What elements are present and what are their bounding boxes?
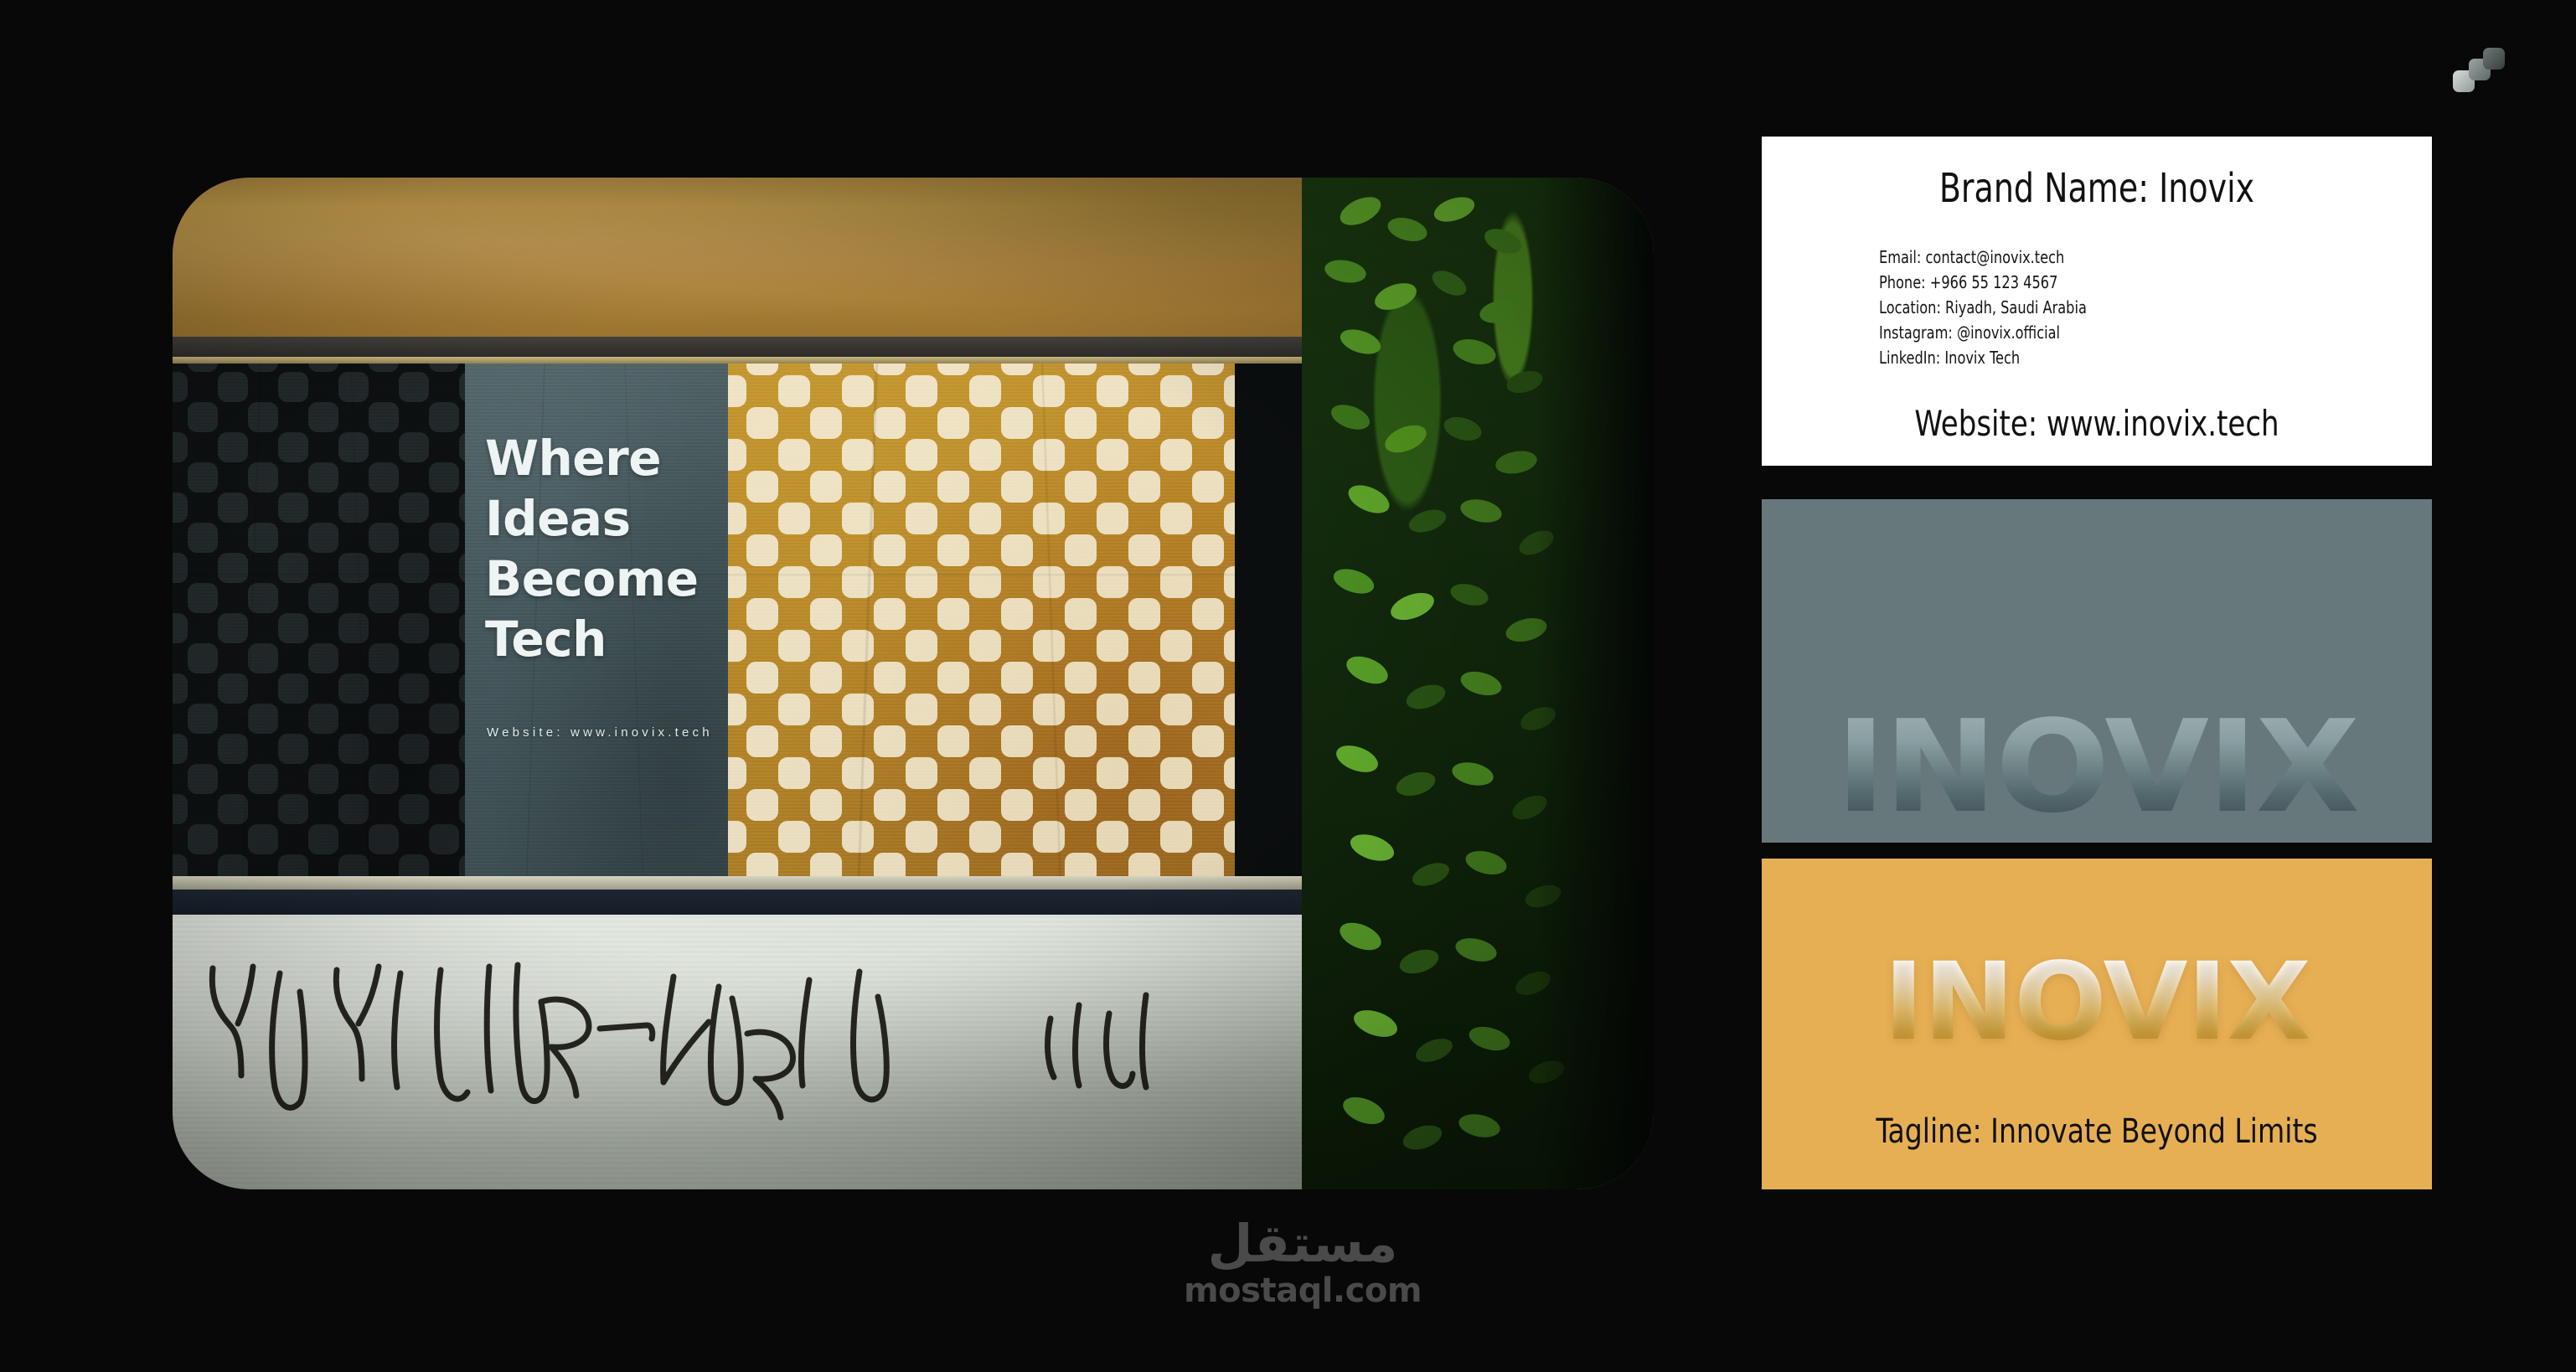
pattern-tile — [459, 583, 465, 643]
pattern-tile — [278, 523, 338, 583]
pattern-tile — [459, 523, 465, 583]
pattern-tile — [173, 824, 218, 876]
pattern-tile — [1160, 598, 1224, 662]
pattern-tile — [173, 704, 218, 764]
logo-block-3 — [2483, 48, 2505, 70]
billboard-ochre-pattern-panel — [728, 364, 1235, 876]
stepped-pattern-dark — [173, 364, 465, 876]
pattern-tile — [728, 853, 778, 876]
pattern-tile — [1224, 534, 1235, 598]
stepped-pattern-ochre — [728, 364, 1235, 876]
pattern-tile — [218, 764, 278, 824]
pattern-tile — [1224, 725, 1235, 789]
pattern-tile — [338, 583, 399, 643]
pattern-tile — [728, 471, 778, 534]
pattern-tile — [778, 534, 842, 598]
pattern-tile — [459, 402, 465, 462]
pattern-tile — [969, 598, 1033, 662]
pattern-tile — [278, 462, 338, 523]
pattern-tile — [1033, 534, 1097, 598]
pattern-tile — [1160, 853, 1224, 876]
pattern-tile — [399, 824, 459, 876]
pattern-tile — [1224, 364, 1235, 407]
wordmark-orange: INOVIX — [1762, 949, 2432, 1056]
pattern-tile — [278, 402, 338, 462]
pattern-tile — [338, 364, 399, 402]
pattern-tile — [399, 364, 459, 402]
pattern-tile — [1224, 853, 1235, 876]
orange-logo-panel: INOVIX Tagline: Innovate Beyond Limits — [1762, 859, 2432, 1189]
pattern-tile — [338, 643, 399, 704]
pattern-tile — [173, 364, 218, 402]
pattern-tile — [1033, 471, 1097, 534]
pattern-tile — [338, 704, 399, 764]
pattern-tile — [778, 853, 842, 876]
pattern-tile — [1160, 364, 1224, 407]
pattern-tile — [906, 662, 969, 725]
contact-phone: Phone: +966 55 123 4567 — [1879, 270, 2377, 295]
pattern-tile — [1224, 598, 1235, 662]
pattern-tile — [1033, 662, 1097, 725]
contact-location: Location: Riyadh, Saudi Arabia — [1879, 295, 2377, 320]
pattern-tile — [728, 364, 778, 407]
pattern-tile — [969, 789, 1033, 853]
pattern-tile — [459, 462, 465, 523]
pattern-tile — [728, 598, 778, 662]
pattern-tile — [278, 364, 338, 402]
billboard-headline: Where Ideas Become Tech — [485, 429, 720, 670]
pattern-tile — [969, 407, 1033, 471]
website-line: Website: www.inovix.tech — [1795, 403, 2398, 444]
pattern-tile — [218, 462, 278, 523]
pattern-tile — [1224, 662, 1235, 725]
pattern-tile — [906, 364, 969, 407]
pattern-tile — [1160, 662, 1224, 725]
pattern-tile — [173, 402, 218, 462]
pattern-tile — [173, 523, 218, 583]
contact-email: Email: contact@inovix.tech — [1879, 245, 2377, 270]
pattern-tile — [218, 402, 278, 462]
pattern-tile — [278, 764, 338, 824]
pattern-tile — [278, 704, 338, 764]
pattern-tile — [1224, 471, 1235, 534]
pattern-tile — [778, 662, 842, 725]
pattern-tile — [218, 824, 278, 876]
pattern-tile — [278, 583, 338, 643]
pattern-tile — [1224, 789, 1235, 853]
billboard-website-text: Website: www.inovix.tech — [487, 725, 728, 740]
pattern-tile — [728, 789, 778, 853]
pattern-tile — [842, 853, 906, 876]
pattern-tile — [906, 471, 969, 534]
pattern-tile — [173, 643, 218, 704]
pattern-tile — [1160, 789, 1224, 853]
pattern-tile — [173, 583, 218, 643]
pattern-tile — [1033, 598, 1097, 662]
headline-line-2: Ideas — [485, 489, 720, 549]
pattern-tile — [842, 364, 906, 407]
headline-line-1: Where — [485, 429, 720, 489]
foliage-shadow — [1536, 178, 1654, 1189]
pattern-tile — [338, 523, 399, 583]
pattern-tile — [459, 704, 465, 764]
pattern-tile — [1033, 407, 1097, 471]
pattern-tile — [173, 764, 218, 824]
pattern-tile — [218, 364, 278, 402]
pattern-tile — [218, 583, 278, 643]
pattern-tile — [842, 789, 906, 853]
pattern-tile — [842, 725, 906, 789]
inovix-logo-mark — [2453, 47, 2508, 102]
pattern-tile — [778, 598, 842, 662]
pattern-tile — [842, 662, 906, 725]
pattern-tile — [1160, 725, 1224, 789]
pattern-tile — [906, 789, 969, 853]
pattern-tile — [778, 471, 842, 534]
pattern-tile — [459, 764, 465, 824]
billboard-dark-pattern-panel — [173, 364, 465, 876]
tagline-text: Tagline: Innovate Beyond Limits — [1789, 1112, 2405, 1151]
pattern-tile — [1097, 662, 1160, 725]
pattern-tile — [778, 725, 842, 789]
pattern-tile — [969, 471, 1033, 534]
contact-linkedin: LinkedIn: Inovix Tech — [1879, 345, 2377, 370]
pattern-tile — [1224, 407, 1235, 471]
pattern-tile — [1097, 364, 1160, 407]
contact-details-list: Email: contact@inovix.tech Phone: +966 5… — [1762, 245, 2432, 370]
pattern-tile — [1033, 853, 1097, 876]
pattern-tile — [1033, 364, 1097, 407]
headline-line-4: Tech — [485, 610, 720, 670]
pattern-tile — [278, 824, 338, 876]
pattern-tile — [399, 523, 459, 583]
pattern-tile — [278, 643, 338, 704]
pattern-tile — [399, 764, 459, 824]
pattern-tile — [1097, 853, 1160, 876]
pattern-tile — [399, 583, 459, 643]
pattern-tile — [1033, 789, 1097, 853]
brand-info-card: Brand Name: Inovix Email: contact@inovix… — [1762, 137, 2432, 466]
pattern-tile — [842, 471, 906, 534]
pattern-tile — [1160, 471, 1224, 534]
pattern-tile — [969, 662, 1033, 725]
pattern-tile — [218, 523, 278, 583]
pattern-tile — [728, 725, 778, 789]
pattern-tile — [728, 534, 778, 598]
pattern-tile — [1097, 407, 1160, 471]
pattern-tile — [842, 598, 906, 662]
pattern-tile — [1097, 725, 1160, 789]
pattern-tile — [1097, 598, 1160, 662]
wordmark-grey: INOVIX — [1762, 704, 2432, 831]
pattern-tile — [173, 462, 218, 523]
pattern-tile — [969, 853, 1033, 876]
pattern-tile — [778, 789, 842, 853]
pattern-tile — [338, 462, 399, 523]
brand-name-heading: Brand Name: Inovix — [1802, 165, 2392, 212]
pattern-tile — [399, 462, 459, 523]
pattern-tile — [842, 407, 906, 471]
watermark-arabic: مستقل — [1139, 1216, 1466, 1271]
pattern-tile — [778, 364, 842, 407]
pattern-tile — [842, 534, 906, 598]
pattern-tile — [906, 534, 969, 598]
pattern-tile — [906, 725, 969, 789]
pattern-tile — [338, 764, 399, 824]
pattern-tile — [969, 725, 1033, 789]
pattern-tile — [906, 407, 969, 471]
pattern-tile — [969, 364, 1033, 407]
pattern-tile — [906, 598, 969, 662]
pattern-tile — [906, 853, 969, 876]
pattern-tile — [1097, 471, 1160, 534]
pattern-tile — [399, 643, 459, 704]
pattern-tile — [1160, 407, 1224, 471]
pattern-tile — [338, 402, 399, 462]
pattern-tile — [778, 407, 842, 471]
watermark-latin: mostaql.com — [1139, 1272, 1466, 1309]
pattern-tile — [338, 824, 399, 876]
contact-instagram: Instagram: @inovix.official — [1879, 320, 2377, 345]
grey-logo-panel: INOVIX — [1762, 499, 2432, 843]
pattern-tile — [969, 534, 1033, 598]
pattern-tile — [1160, 534, 1224, 598]
pattern-tile — [1097, 534, 1160, 598]
headline-line-3: Become — [485, 549, 720, 610]
pattern-tile — [459, 643, 465, 704]
mostaql-watermark: مستقل mostaql.com — [1139, 1216, 1466, 1309]
pattern-tile — [459, 364, 465, 402]
billboard-mockup-photo: 055 Where Ideas Become Tech Website: www… — [173, 178, 1654, 1189]
pattern-tile — [218, 704, 278, 764]
pattern-tile — [1097, 789, 1160, 853]
foliage-plant — [1302, 178, 1654, 1189]
pattern-tile — [728, 407, 778, 471]
pattern-tile — [399, 704, 459, 764]
pattern-tile — [728, 662, 778, 725]
pattern-tile — [399, 402, 459, 462]
pattern-tile — [218, 643, 278, 704]
billboard-headline-panel: 055 Where Ideas Become Tech Website: www… — [465, 364, 728, 876]
pattern-tile — [1033, 725, 1097, 789]
pattern-tile — [459, 824, 465, 876]
